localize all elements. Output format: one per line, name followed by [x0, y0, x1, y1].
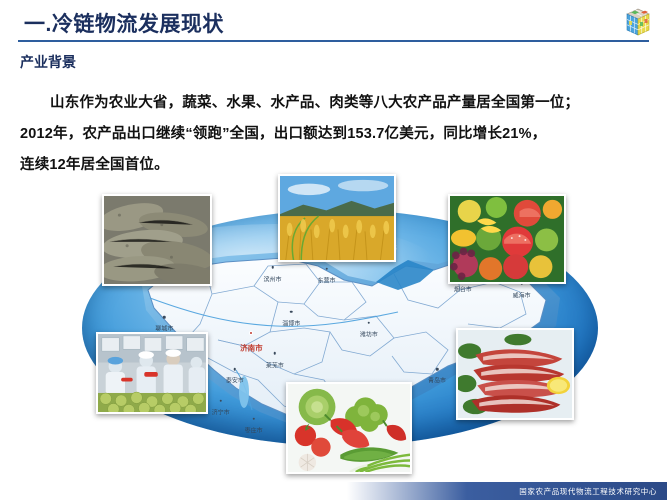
- body-line-2: 2012年，农产品出口继续“领跑”全国，出口额达到153.7亿美元，同比增长21…: [20, 126, 546, 142]
- body-line-1: 山东作为农业大省，蔬菜、水果、水产品、肉类等八大农产品产量居全国第一位；: [50, 95, 579, 111]
- map-dot-weifang: [368, 322, 371, 325]
- body-line-3: 连续12年居全国首位。: [20, 157, 169, 173]
- photo-vegetables-art: [288, 384, 410, 472]
- map-dot-binzhou: [271, 266, 274, 269]
- map-dot-zibo: [290, 310, 293, 313]
- map-dot-zaozhuang: [252, 418, 255, 421]
- photo-grain-field: [278, 174, 396, 262]
- map-label-weihai: 威海市: [513, 290, 531, 299]
- body-paragraph: 山东作为农业大省，蔬菜、水果、水产品、肉类等八大农产品产量居全国第一位； 201…: [20, 88, 660, 181]
- photo-aquatic-products-art: [104, 196, 210, 284]
- map-label-binzhou: 滨州市: [263, 274, 281, 283]
- map-label-jining: 济宁市: [212, 408, 230, 417]
- photo-aquatic-products: [102, 194, 212, 286]
- map-label-zibo: 淄博市: [282, 318, 300, 327]
- map-dot-qingdao: [436, 368, 439, 371]
- photo-meat-art: [458, 330, 572, 418]
- photo-meat: [456, 328, 574, 420]
- map-dot-capital: [249, 331, 253, 335]
- illustration-group: 济南市 德州市 滨州市 东营市 淄博市 潍坊市 烟台市 威海市 青岛市 莱芜市 …: [60, 172, 620, 482]
- map-label-dongying: 东营市: [318, 275, 336, 284]
- title-divider: [18, 40, 649, 42]
- photo-food-processing: [96, 332, 208, 414]
- rubiks-cube-logo-icon: [623, 6, 653, 38]
- map-label-weifang: 潍坊市: [360, 330, 378, 339]
- map-dot-jining: [220, 400, 223, 403]
- photo-grain-field-art: [280, 176, 394, 260]
- map-label-zaozhuang: 枣庄市: [245, 426, 263, 435]
- map-dot-dongying: [325, 267, 328, 270]
- page-title: 一.冷链物流发展现状: [24, 8, 224, 38]
- map-dot-taian: [234, 368, 237, 371]
- map-dot-laiwu: [274, 352, 277, 355]
- photo-fruits-art: [450, 196, 564, 282]
- map-label-laiwu: 莱芜市: [266, 360, 284, 369]
- map-label-jinan: 济南市: [240, 342, 263, 353]
- map-dot-liaocheng: [163, 316, 166, 319]
- map-label-qingdao: 青岛市: [428, 376, 446, 385]
- photo-vegetables: [286, 382, 412, 474]
- section-subtitle: 产业背景: [20, 52, 76, 72]
- map-label-yantai: 烟台市: [454, 284, 472, 293]
- map-label-taian: 泰安市: [226, 376, 244, 385]
- photo-fruits: [448, 194, 566, 284]
- photo-food-processing-art: [98, 334, 206, 412]
- footer-organization: 国家农产品现代物流工程技术研究中心: [519, 486, 657, 497]
- slide-root: 一.冷链物流发展现状 产业背: [0, 0, 667, 500]
